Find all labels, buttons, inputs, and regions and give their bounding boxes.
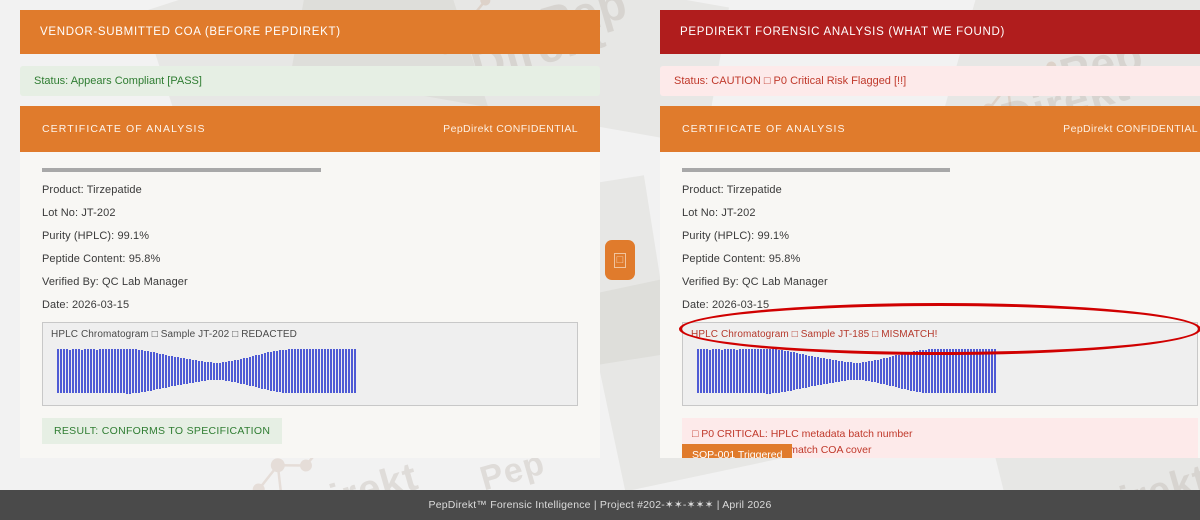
result-badge: RESULT: CONFORMS TO SPECIFICATION [42,418,282,444]
chromatogram-bar [72,349,74,393]
field-purity: Purity (HPLC): 99.1% [682,230,1198,242]
chromatogram-bar [159,354,161,389]
vendor-panel-header: VENDOR-SUBMITTED COA (BEFORE PEPDIREKT) [20,10,600,54]
chromatogram-bar [141,350,143,392]
chromatogram-bar [925,350,927,393]
chromatogram-bar [210,362,212,380]
chromatogram-bar [712,349,714,393]
chromatogram-bar [279,350,281,392]
chromatogram-bar [78,349,80,393]
chromatogram-bar [195,360,197,382]
chromatogram-bar [802,354,804,388]
chromatogram-bar [240,359,242,384]
chromatogram-bar [273,351,275,391]
chromatogram-bar [165,355,167,388]
chromatogram-bar [261,354,263,389]
chromatogram-bar [715,349,717,393]
chromatogram-bar [90,349,92,393]
chromatogram-bar [183,358,185,384]
vendor-certificate-body: Product: Tirzepatide Lot No: JT-202 Puri… [20,152,600,458]
chromatogram-bar [985,349,987,393]
chromatogram-bar [979,349,981,393]
chromatogram-bar [805,355,807,388]
chromatogram-bar [354,349,356,393]
forensic-certificate-card: CERTIFICATE OF ANALYSIS PepDirekt CONFID… [660,106,1200,458]
chromatogram-bar [234,360,236,382]
chromatogram-bar [946,349,948,393]
chromatogram-bar [862,362,864,380]
chromatogram-bar [69,350,71,393]
field-lot-no: Lot No: JT-202 [42,207,578,219]
chromatogram-bar [216,363,218,380]
chromatogram-bar [291,349,293,393]
chromatogram-bar [327,349,329,393]
chromatogram-bar [970,349,972,393]
chromatogram-bar [294,349,296,393]
field-product: Product: Tirzepatide [42,184,578,196]
chromatogram-bar [697,349,699,393]
chromatogram-bar [763,349,765,393]
chromatogram-bar [907,352,909,390]
chromatogram-bar [114,349,116,393]
chromatogram-bar [883,358,885,384]
chromatogram-bar [766,349,768,394]
chromatogram-bar [333,349,335,393]
chromatogram-bar [844,362,846,381]
chromatogram-bar [733,349,735,393]
chromatogram-bar [348,349,350,393]
chromatogram-bar [847,362,849,380]
chromatogram-bar [967,349,969,393]
vendor-chromatogram: HPLC Chromatogram □ Sample JT-202 □ REDA… [42,322,578,406]
chromatogram-bar [778,350,780,393]
chromatogram-bar [174,357,176,386]
chromatogram-bar [189,359,191,383]
chromatogram-bar [246,358,248,385]
chromatogram-bar [87,349,89,393]
chromatogram-bar [270,352,272,391]
chromatogram-bar [213,363,215,380]
chromatogram-bar [120,349,122,393]
chromatogram-bar [757,349,759,393]
chromatogram-bar [135,349,137,393]
chromatogram-bar [156,353,158,389]
forensic-certificate-body: Product: Tirzepatide Lot No: JT-202 Puri… [660,152,1200,458]
screenshot-root: Pep Direkt Pep Direkt Direkt Direkt Pep … [0,0,1200,520]
chromatogram-bar [952,349,954,393]
chromatogram-bar [225,362,227,381]
chromatogram-bar [937,349,939,393]
forensic-certificate-header: CERTIFICATE OF ANALYSIS PepDirekt CONFID… [660,106,1200,152]
chromatogram-bar [796,353,798,389]
chromatogram-bar [306,349,308,393]
chromatogram-bar [817,357,819,385]
chromatogram-bar [198,361,200,382]
chromatogram-bar [850,362,852,380]
chromatogram-bar [258,355,260,388]
chromatogram-bar [297,349,299,393]
chromatogram-bar [315,349,317,393]
chromatogram-bar [868,361,870,381]
title-rule [42,168,321,172]
chromatogram-bar [718,349,720,393]
chromatogram-bar [943,349,945,393]
chromatogram-bar [988,349,990,393]
chromatogram-bar [63,349,65,393]
confidential-stamp: PepDirekt CONFIDENTIAL [1063,123,1198,135]
chromatogram-bar [108,349,110,393]
chromatogram-bar [961,349,963,393]
chromatogram-bar [201,361,203,381]
chromatogram-bar [742,349,744,393]
chromatogram-bar [75,349,77,393]
chromatogram-bar [874,360,876,382]
chromatogram-bar [892,356,894,386]
chromatogram-bar [285,350,287,393]
field-date: Date: 2026-03-15 [42,299,578,311]
chromatogram-bar [787,351,789,391]
chromatogram-bar [336,349,338,393]
chromatogram-bar [342,349,344,393]
chromatogram-bar [871,361,873,382]
chromatogram-bar [949,349,951,393]
chromatogram-bar [880,359,882,384]
chromatogram-bar [982,349,984,393]
chromatogram-bar [312,349,314,393]
chromatogram-bar [721,350,723,393]
field-peptide-content: Peptide Content: 95.8% [682,253,1198,265]
chromatogram-bar [931,349,933,393]
chromatogram-bar [96,350,98,393]
page-footer: PepDirekt™ Forensic Intelligence | Proje… [0,490,1200,520]
chromatogram-bar [222,362,224,380]
chromatogram-bar [700,349,702,393]
chromatogram-bars [691,344,1189,398]
chromatogram-bar [111,349,113,393]
chromatogram-bar [748,349,750,393]
finding-line: □ P0 CRITICAL: HPLC metadata batch numbe… [692,426,1188,442]
certificate-title: CERTIFICATE OF ANALYSIS [42,123,206,135]
chromatogram-bar [814,357,816,386]
chromatogram-bar [267,352,269,390]
chromatogram-bar [823,358,825,384]
chromatogram-bar [177,357,179,385]
chromatogram-bar [808,356,810,387]
chromatogram-bar [877,360,879,383]
chromatogram-bar [318,349,320,393]
chromatogram-bar [859,363,861,380]
chromatogram-bar [237,360,239,383]
chromatogram-bar [99,349,101,393]
chromatogram-bar [81,350,83,393]
chromatogram-bar [772,349,774,393]
field-date: Date: 2026-03-15 [682,299,1198,311]
chromatogram-bar [321,349,323,393]
vendor-certificate-header: CERTIFICATE OF ANALYSIS PepDirekt CONFID… [20,106,600,152]
chromatogram-bar [727,349,729,393]
chromatogram-bar [162,354,164,388]
chromatogram-bar [793,352,795,390]
field-product: Product: Tirzepatide [682,184,1198,196]
chromatogram-bar [775,349,777,393]
chromatogram-bar [895,355,897,387]
forensic-analysis-panel: PEPDIREKT FORENSIC ANALYSIS (WHAT WE FOU… [660,10,1200,472]
chromatogram-bars [51,344,569,398]
chromatogram-bar [57,349,59,393]
field-lot-no: Lot No: JT-202 [682,207,1198,219]
chromatogram-bar [853,363,855,380]
chromatogram-bar [835,360,837,382]
chromatogram-bar [934,349,936,393]
chromatogram-bar [303,349,305,393]
chromatogram-bar [153,352,155,390]
chromatogram-bar [841,361,843,381]
title-rule [682,168,950,172]
chromatogram-bar [207,362,209,380]
chromatogram-bar [144,351,146,392]
chromatogram-bar [66,349,68,393]
chromatogram-bar [324,349,326,393]
chromatogram-bar [186,359,188,384]
chromatogram-bar [916,351,918,392]
chromatogram-bar [832,360,834,383]
field-verified-by: Verified By: QC Lab Manager [682,276,1198,288]
chromatogram-bar [913,351,915,391]
chromatogram-bar [282,350,284,393]
chromatogram-bar [901,354,903,389]
chromatogram-bar [751,349,753,393]
chromatogram-bar [129,349,131,394]
chromatogram-bar [922,350,924,393]
chromatogram-bar [93,349,95,393]
chromatogram-bar [339,349,341,393]
chromatogram-bar [745,349,747,393]
vendor-coa-panel: VENDOR-SUBMITTED COA (BEFORE PEPDIREKT) … [20,10,600,472]
chromatogram-bar [138,350,140,393]
vendor-status-badge: Status: Appears Compliant [PASS] [20,66,600,96]
chromatogram-bar [865,362,867,381]
chromatogram-bar [84,349,86,393]
chromatogram-bar [204,362,206,381]
forensic-panel-header: PEPDIREKT FORENSIC ANALYSIS (WHAT WE FOU… [660,10,1200,54]
chromatogram-bar [784,351,786,392]
chromatogram-bar [105,349,107,393]
chromatogram-bar [219,363,221,380]
chromatogram-bar [886,358,888,385]
chromatogram-bar [904,353,906,389]
chromatogram-bar [252,356,254,386]
forensic-chromatogram: HPLC Chromatogram □ Sample JT-185 □ MISM… [682,322,1198,406]
chromatogram-bar [736,350,738,393]
chromatogram-bar [351,349,353,393]
chromatogram-bar [150,352,152,391]
chromatogram-bar [276,351,278,392]
sop-triggered-badge: SOP-001 Triggered [682,444,792,458]
chromatogram-bar [754,349,756,393]
chromatogram-bar [345,349,347,393]
chromatogram-bar [123,349,125,393]
chromatogram-bar [790,352,792,391]
chromatogram-bar [102,349,104,393]
chromatogram-bar [826,359,828,384]
chromatogram-bar [838,361,840,382]
chromatogram-bar [288,349,290,393]
chromatogram-bar [811,356,813,386]
chromatogram-bar [330,349,332,393]
chromatogram-bar [964,349,966,393]
chromatogram-bar [991,349,993,393]
chromatogram-bar [168,356,170,387]
chromatogram-bar [889,357,891,386]
chromatogram-bar [243,358,245,384]
chromatogram-bar [249,357,251,386]
chromatogram-bar [829,359,831,383]
chromatogram-bar [264,353,266,389]
chromatogram-bar [856,363,858,380]
vendor-certificate-card: CERTIFICATE OF ANALYSIS PepDirekt CONFID… [20,106,600,458]
chromatogram-bar [231,361,233,382]
chromatogram-bar [228,361,230,381]
chromatogram-label: HPLC Chromatogram □ Sample JT-185 □ MISM… [691,329,1189,340]
chromatogram-bar [309,349,311,393]
chromatogram-bar [180,358,182,385]
chromatogram-label: HPLC Chromatogram □ Sample JT-202 □ REDA… [51,329,569,340]
chromatogram-bar [300,349,302,393]
chromatogram-bar [976,349,978,393]
chromatogram-bar [898,355,900,388]
chromatogram-bar [919,350,921,392]
chromatogram-bar [799,354,801,389]
chromatogram-bar [940,349,942,393]
chromatogram-bar [255,355,257,387]
chromatogram-bar [910,352,912,391]
chromatogram-bar [928,349,930,393]
chromatogram-bar [955,349,957,393]
chromatogram-bar [192,360,194,383]
chromatogram-bar [132,349,134,393]
chromatogram-bar [739,349,741,393]
chromatogram-bar [973,349,975,393]
chromatogram-bar [147,351,149,391]
arrow-right-icon: □ [614,253,627,268]
chromatogram-bar [709,350,711,393]
chromatogram-bar [769,349,771,394]
chromatogram-bar [706,349,708,393]
confidential-stamp: PepDirekt CONFIDENTIAL [443,123,578,135]
chromatogram-bar [781,350,783,392]
chromatogram-bar [703,349,705,393]
footer-text: PepDirekt™ Forensic Intelligence | Proje… [429,499,772,511]
chromatogram-bar [994,349,996,393]
chromatogram-bar [60,349,62,393]
field-verified-by: Verified By: QC Lab Manager [42,276,578,288]
field-purity: Purity (HPLC): 99.1% [42,230,578,242]
certificate-title: CERTIFICATE OF ANALYSIS [682,123,846,135]
chromatogram-bar [171,356,173,386]
chromatogram-bar [820,358,822,385]
forensic-status-badge: Status: CAUTION □ P0 Critical Risk Flagg… [660,66,1200,96]
chromatogram-bar [760,349,762,393]
chromatogram-bar [730,349,732,393]
chromatogram-bar [117,349,119,393]
chromatogram-bar [958,349,960,393]
chromatogram-bar [126,349,128,394]
comparison-connector[interactable]: □ [605,240,635,280]
chromatogram-bar [724,349,726,393]
field-peptide-content: Peptide Content: 95.8% [42,253,578,265]
